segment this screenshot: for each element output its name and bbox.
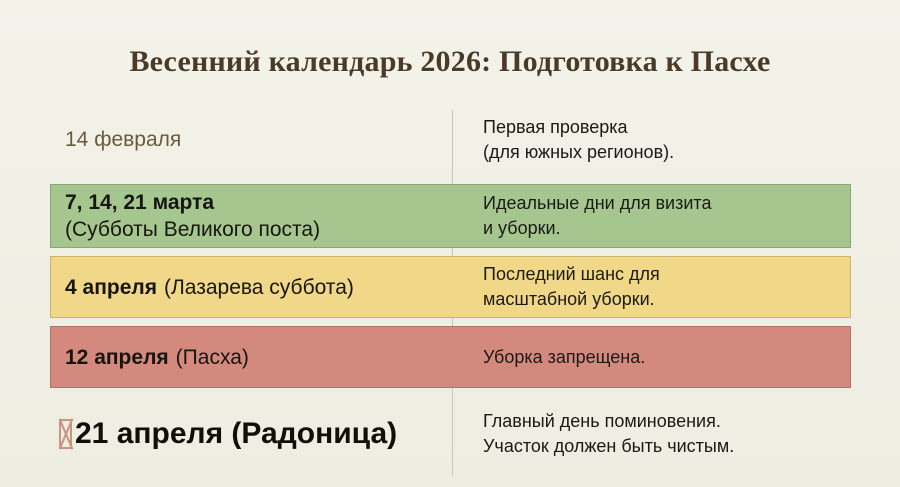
- description-line: и уборки.: [483, 216, 840, 241]
- row-date-bold: 4 апреля: [65, 276, 157, 299]
- row-description: Последний шанс для масштабной уборки.: [483, 262, 840, 312]
- row-date-plain: (Пасха): [176, 346, 249, 369]
- table-row: 12 апреля(Пасха) Уборка запрещена.: [50, 326, 851, 388]
- row-date-plain: 14 февраля: [65, 128, 181, 151]
- row-description: Идеальные дни для визита и уборки.: [483, 191, 840, 241]
- row-date-cell: 7, 14, 21 марта (Субботы Великого поста): [51, 189, 453, 243]
- row-date-plain: (Лазарева суббота): [164, 276, 354, 299]
- calendar-table: 14 февраля Первая проверка (для южных ре…: [50, 104, 851, 480]
- row-description-cell: Идеальные дни для визита и уборки.: [453, 191, 850, 241]
- description-line: Идеальные дни для визита: [483, 191, 840, 216]
- description-line: Первая проверка: [483, 115, 840, 140]
- row-date-cell: 4 апреля(Лазарева суббота): [51, 274, 453, 301]
- row-description-cell: Последний шанс для масштабной уборки.: [453, 262, 850, 312]
- description-line: (для южных регионов).: [483, 140, 840, 165]
- row-description-cell: Главный день поминовения. Участок должен…: [453, 409, 850, 459]
- page-title: Весенний календарь 2026: Подготовка к Па…: [129, 44, 770, 80]
- row-description: Первая проверка (для южных регионов).: [483, 115, 840, 165]
- row-date-bold: 7, 14, 21 марта: [65, 191, 214, 214]
- final-row-date-wrap: 21 апреля (Радоница): [59, 416, 443, 452]
- description-line: масштабной уборки.: [483, 287, 840, 312]
- table-row: 14 февраля Первая проверка (для южных ре…: [50, 104, 851, 176]
- description-line: Последний шанс для: [483, 262, 840, 287]
- table-row: 7, 14, 21 марта (Субботы Великого поста)…: [50, 184, 851, 248]
- row-date-bold: 12 апреля: [65, 346, 169, 369]
- description-line: Главный день поминовения.: [483, 409, 840, 434]
- row-description: Главный день поминовения. Участок должен…: [483, 409, 840, 459]
- table-row: 4 апреля(Лазарева суббота) Последний шан…: [50, 256, 851, 318]
- final-row-date: 21 апреля (Радоница): [75, 416, 397, 452]
- description-line: Уборка запрещена.: [483, 345, 840, 370]
- table-row: 21 апреля (Радоница) Главный день помино…: [50, 396, 851, 472]
- row-date-cell: 12 апреля(Пасха): [51, 344, 453, 371]
- row-description-cell: Уборка запрещена.: [453, 345, 850, 370]
- row-date-cell: 14 февраля: [51, 127, 453, 153]
- page-title-wrap: Весенний календарь 2026: Подготовка к Па…: [0, 44, 900, 80]
- row-description-cell: Первая проверка (для южных регионов).: [453, 115, 850, 165]
- row-description: Уборка запрещена.: [483, 345, 840, 370]
- row-date-plain: (Субботы Великого поста): [65, 218, 320, 241]
- row-date-cell: 21 апреля (Радоница): [51, 416, 453, 452]
- missing-glyph-box-icon: [59, 419, 72, 449]
- calendar-infographic: Весенний календарь 2026: Подготовка к Па…: [0, 0, 900, 487]
- description-line: Участок должен быть чистым.: [483, 434, 840, 459]
